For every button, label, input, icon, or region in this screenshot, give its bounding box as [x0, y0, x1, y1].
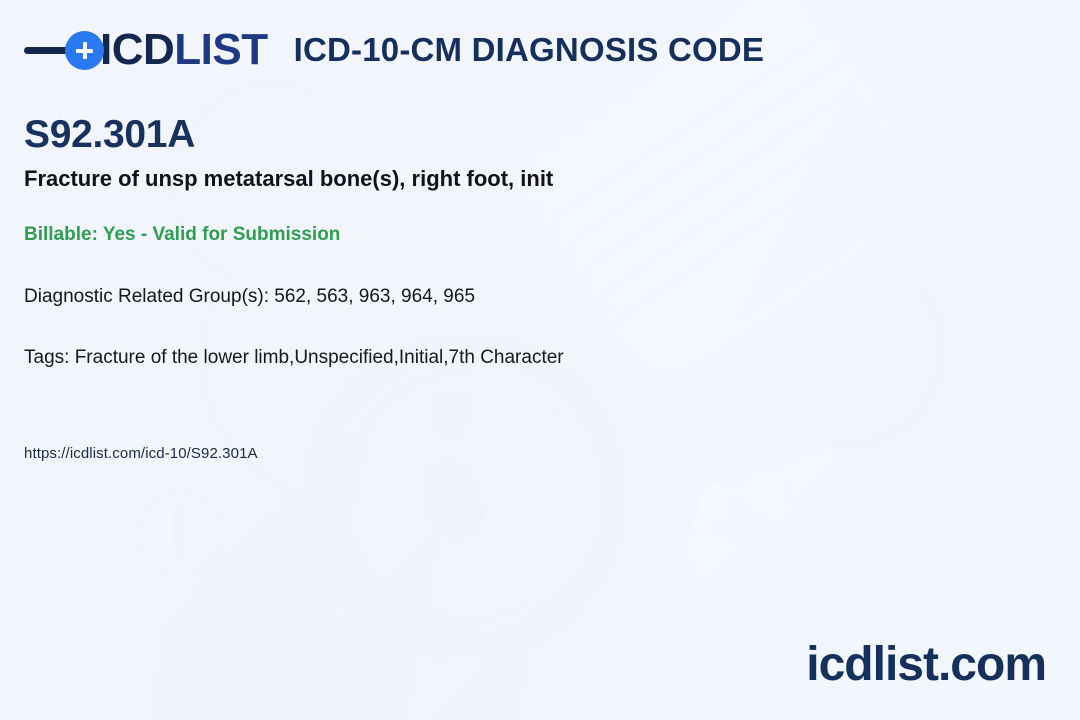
source-url[interactable]: https://icdlist.com/icd-10/S92.301A: [24, 445, 258, 462]
site-watermark: icdlist.com: [806, 637, 1046, 692]
stethoscope-tube-shape: [175, 288, 356, 501]
stethoscope-inner-loop-shape: [336, 368, 594, 626]
plus-circle-icon: [65, 31, 104, 70]
diagnostic-related-groups: Diagnostic Related Group(s): 562, 563, 9…: [24, 286, 475, 308]
stethoscope-eartip-secondary-shape: [409, 448, 495, 550]
page-title: ICD-10-CM DIAGNOSIS CODE: [294, 31, 765, 69]
diagnosis-tags: Tags: Fracture of the lower limb,Unspeci…: [24, 347, 564, 369]
logo-text-icd: ICD: [100, 25, 174, 74]
hand-shape: [669, 440, 901, 650]
stethoscope-eartip-shape: [423, 371, 481, 449]
diagnosis-description: Fracture of unsp metatarsal bone(s), rig…: [24, 166, 553, 192]
stethoscope-chestpiece-shape: [135, 488, 227, 580]
icdlist-logo[interactable]: ICDLIST: [24, 28, 268, 72]
heart-shape: [690, 468, 806, 584]
diagnosis-code: S92.301A: [24, 113, 195, 157]
logo-text-list: LIST: [174, 25, 267, 74]
stethoscope-loop-shape: [300, 330, 630, 660]
mask-edge-shape: [814, 243, 962, 468]
dash-icon: [24, 47, 69, 54]
poster-canvas: ICDLIST ICD-10-CM DIAGNOSIS CODE S92.301…: [0, 0, 1080, 720]
page-header: ICDLIST ICD-10-CM DIAGNOSIS CODE: [24, 28, 764, 72]
billable-status: Billable: Yes - Valid for Submission: [24, 224, 340, 246]
